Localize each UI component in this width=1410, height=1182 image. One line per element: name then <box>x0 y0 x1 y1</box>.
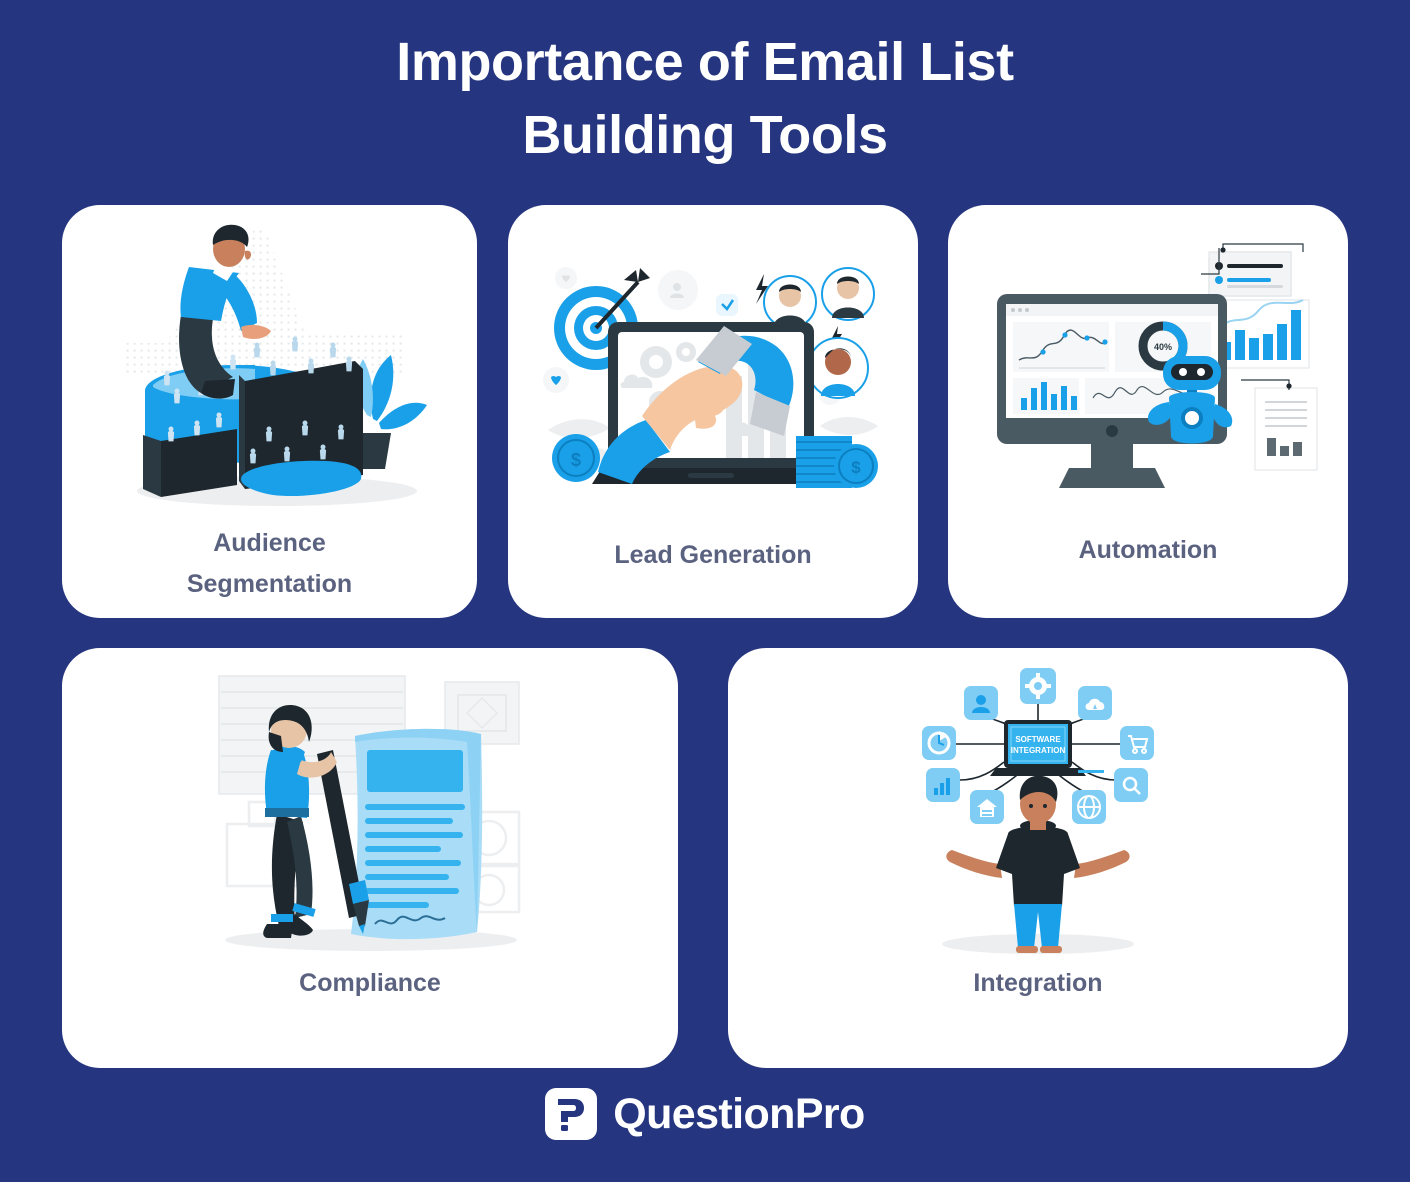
page-title: Importance of Email List Building Tools <box>0 26 1410 172</box>
software-integration-node: SOFTWARE INTEGRATION <box>990 720 1104 776</box>
card-label-automation: Automation <box>948 530 1348 571</box>
node-label-line-1: SOFTWARE <box>1015 735 1061 744</box>
card-automation[interactable]: 40% <box>948 205 1348 618</box>
card-label-line-2: Segmentation <box>80 564 459 605</box>
automation-illustration: 40% <box>948 233 1348 523</box>
integration-illustration: SOFTWARE INTEGRATION <box>728 658 1348 958</box>
page-title-line-1: Importance of Email List <box>0 26 1410 99</box>
floating-bar-card <box>1213 300 1309 368</box>
svg-text:$: $ <box>571 450 581 470</box>
card-label-line-1: Audience <box>80 523 459 564</box>
compliance-illustration <box>62 662 678 952</box>
card-audience-segmentation[interactable]: Audience Segmentation <box>62 205 477 618</box>
svg-text:$: $ <box>851 458 861 477</box>
footer-brand-logo[interactable]: QuestionPro <box>0 1088 1410 1140</box>
brand-name: QuestionPro <box>613 1090 864 1139</box>
floating-list-card <box>1209 252 1291 296</box>
card-integration[interactable]: SOFTWARE INTEGRATION <box>728 648 1348 1068</box>
card-label-integration: Integration <box>728 963 1348 1004</box>
audience-segmentation-illustration <box>62 223 477 523</box>
card-label-compliance: Compliance <box>62 963 678 1004</box>
card-label-audience-segmentation: Audience Segmentation <box>62 523 477 606</box>
page-title-line-2: Building Tools <box>0 99 1410 172</box>
donut-value-label: 40% <box>1154 342 1172 352</box>
lead-generation-illustration: $ $ <box>508 235 918 525</box>
card-lead-generation[interactable]: $ $ Lead Generation <box>508 205 918 618</box>
floating-document-card <box>1255 388 1317 470</box>
questionpro-logo-icon <box>545 1088 597 1140</box>
card-compliance[interactable]: Compliance <box>62 648 678 1068</box>
card-label-lead-generation: Lead Generation <box>508 535 918 576</box>
node-label-line-2: INTEGRATION <box>1011 746 1066 755</box>
contract-document <box>351 729 482 939</box>
